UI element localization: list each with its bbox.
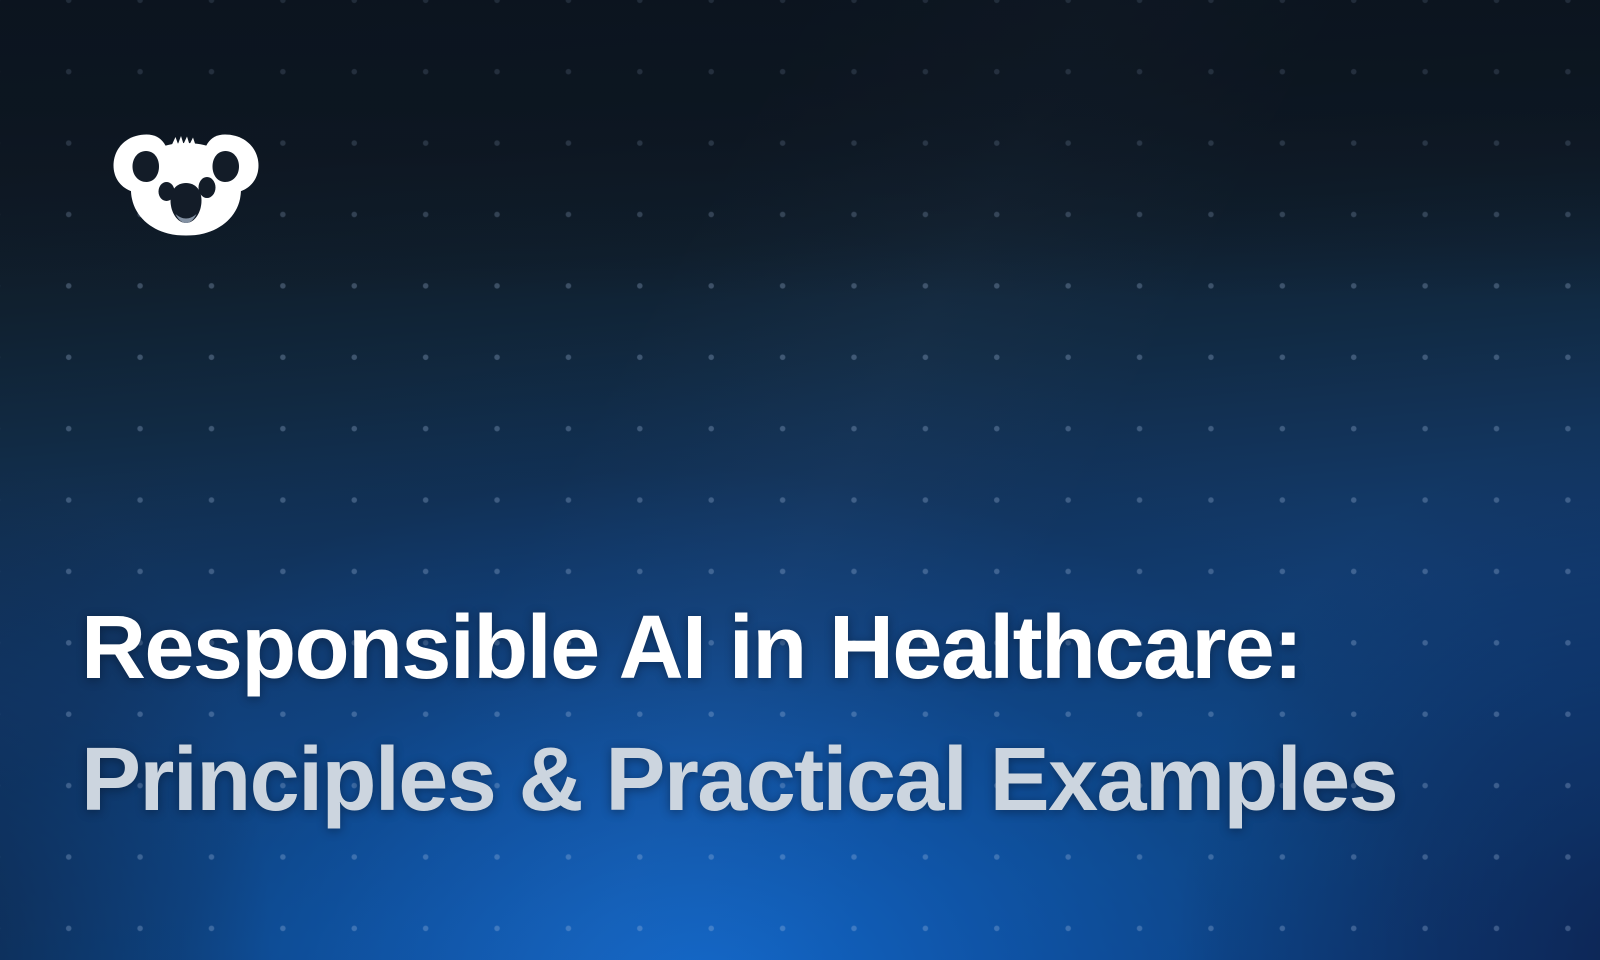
title-slide: Responsible AI in Healthcare: Principles… [0, 0, 1600, 960]
title-line-secondary: Principles & Practical Examples [81, 714, 1581, 846]
title-line-primary: Responsible AI in Healthcare: [81, 582, 1581, 714]
koala-logo-icon [112, 129, 260, 237]
page-title: Responsible AI in Healthcare: Principles… [81, 582, 1581, 846]
